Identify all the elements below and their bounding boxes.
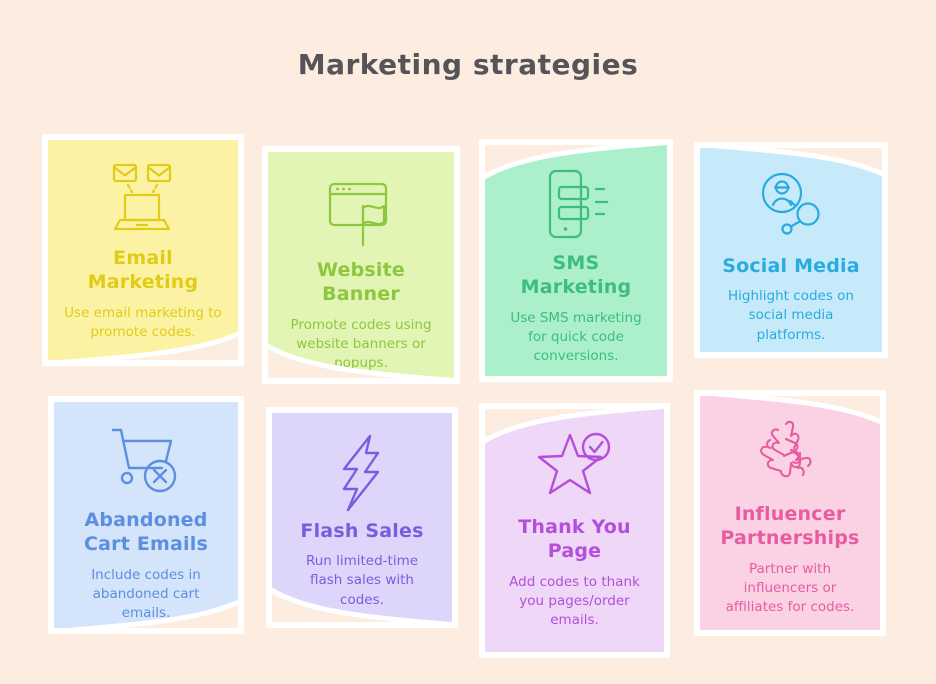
card-description: Partner with influencers or affiliates f… [700, 560, 880, 617]
card-content: Thank YouPageAdd codes to thank you page… [485, 409, 664, 652]
strategy-card-email-marketing[interactable]: EmailMarketingUse email marketing to pro… [42, 134, 244, 366]
card-description: Include codes in abandoned cart emails. [54, 566, 238, 623]
strategy-card-sms-marketing[interactable]: SMSMarketingUse SMS marketing for quick … [479, 139, 673, 382]
card-title: Thank YouPage [510, 515, 638, 564]
browser-window-flag-icon [319, 170, 403, 254]
strategy-card-abandoned-cart-emails[interactable]: AbandonedCart EmailsInclude codes in aba… [48, 396, 244, 634]
strategy-card-website-banner[interactable]: WebsiteBannerPromote codes using website… [262, 146, 460, 384]
card-title: WebsiteBanner [309, 258, 413, 307]
infographic-canvas: Marketing strategies EmailMarketingUse e… [0, 0, 936, 684]
card-title: InfluencerPartnerships [712, 502, 867, 551]
card-title: EmailMarketing [80, 246, 207, 295]
card-title: Flash Sales [292, 519, 431, 543]
laptop-with-envelopes-icon [101, 158, 185, 242]
card-description: Promote codes using website banners or p… [268, 316, 454, 373]
card-content: AbandonedCart EmailsInclude codes in aba… [54, 402, 238, 628]
strategy-card-influencer-partnerships[interactable]: InfluencerPartnershipsPartner with influ… [694, 390, 886, 636]
card-description: Use email marketing to promote codes. [48, 304, 238, 342]
card-title: AbandonedCart Emails [76, 508, 216, 557]
card-description: Add codes to thank you pages/order email… [485, 573, 664, 630]
smartphone-messages-icon [534, 163, 618, 247]
card-content: SMSMarketingUse SMS marketing for quick … [485, 145, 667, 376]
card-content: EmailMarketingUse email marketing to pro… [48, 140, 238, 360]
card-content: Flash SalesRun limited-time flash sales … [272, 413, 452, 622]
lightning-bolt-icon [320, 431, 404, 515]
card-content: InfluencerPartnershipsPartner with influ… [700, 396, 880, 630]
card-description: Run limited-time flash sales with codes. [272, 552, 452, 609]
shopping-cart-remove-icon [104, 420, 188, 504]
card-content: WebsiteBannerPromote codes using website… [268, 152, 454, 378]
strategy-card-thank-you-page[interactable]: Thank YouPageAdd codes to thank you page… [479, 403, 670, 658]
strategy-card-social-media[interactable]: Social MediaHighlight codes on social me… [694, 142, 888, 358]
card-title: Social Media [714, 254, 868, 278]
card-description: Use SMS marketing for quick code convers… [485, 309, 667, 366]
hands-together-icon [748, 414, 832, 498]
card-title: SMSMarketing [513, 251, 640, 300]
strategy-card-flash-sales[interactable]: Flash SalesRun limited-time flash sales … [266, 407, 458, 628]
card-content: Social MediaHighlight codes on social me… [700, 148, 882, 352]
social-network-user-icon [749, 166, 833, 250]
star-check-icon [533, 427, 617, 511]
card-description: Highlight codes on social media platform… [700, 287, 882, 344]
page-title: Marketing strategies [0, 48, 936, 81]
